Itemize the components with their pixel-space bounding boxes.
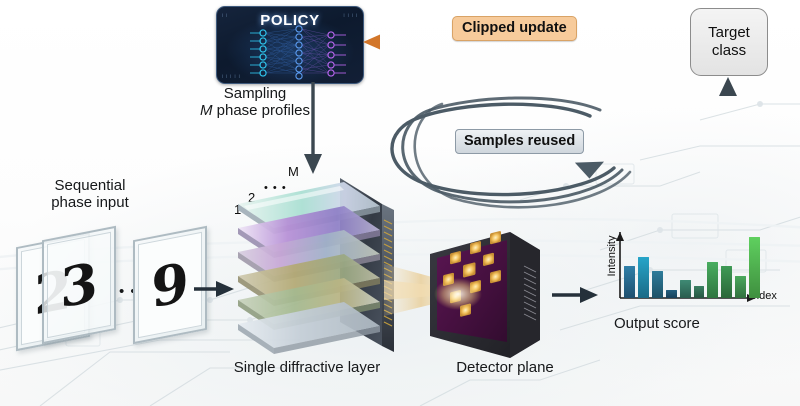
- phase-plate-3-inner: 3: [47, 232, 111, 338]
- target-class-arrow: [708, 74, 748, 246]
- chart-bar: [638, 257, 649, 298]
- target-class-line1: Target: [708, 24, 750, 41]
- clipped-update-arrow: [360, 30, 690, 56]
- seq-line1: Sequential: [14, 178, 166, 195]
- chart-bars: [624, 232, 760, 298]
- seq-line2: phase input: [14, 195, 166, 212]
- chart-bar: [680, 280, 691, 298]
- figure-canvas: POLICY | | | | | | | | | | |: [0, 0, 800, 406]
- samples-reused-label: Samples reused: [455, 129, 584, 154]
- sampling-line2-rest: phase profiles: [212, 102, 310, 119]
- sampling-m-symbol: M: [200, 102, 213, 119]
- sampling-arrow: [300, 82, 326, 178]
- sequential-phase-input-label: Sequential phase input: [14, 178, 166, 212]
- output-score-chart: Intensity Index: [598, 228, 794, 320]
- phase-plate-9-digit: 9: [139, 247, 201, 323]
- policy-panel[interactable]: POLICY | | | | | | | | | | |: [216, 6, 364, 84]
- detector-plane-caption: Detector plane: [435, 360, 575, 377]
- diffractive-plates: [238, 182, 380, 354]
- detector-hotspot: [434, 278, 482, 310]
- chart-bar: [666, 290, 677, 298]
- chart-bar: [624, 266, 635, 298]
- phase-plate-3-digit: 3: [48, 247, 110, 323]
- single-diffractive-layer-caption: Single diffractive layer: [212, 360, 402, 377]
- input-to-layer-arrow: [194, 278, 236, 300]
- output-score-caption: Output score: [614, 316, 784, 333]
- detector-to-chart-arrow: [552, 284, 600, 306]
- target-class-line2: class: [712, 42, 746, 59]
- policy-neural-network: [217, 7, 363, 83]
- phase-plate-9-inner: 9: [138, 232, 202, 338]
- chart-bar: [735, 276, 746, 298]
- detector-plane[interactable]: [428, 232, 558, 360]
- chart-bar: [721, 266, 732, 298]
- chart-bar: [707, 262, 718, 298]
- target-class-text: Target class: [708, 24, 750, 59]
- chart-bar: [749, 237, 760, 298]
- detector-side: [510, 232, 540, 358]
- chart-bar: [694, 286, 705, 298]
- chart-bar: [652, 271, 663, 298]
- phase-plate-3[interactable]: 3: [42, 226, 116, 344]
- target-class-box[interactable]: Target class: [690, 8, 768, 76]
